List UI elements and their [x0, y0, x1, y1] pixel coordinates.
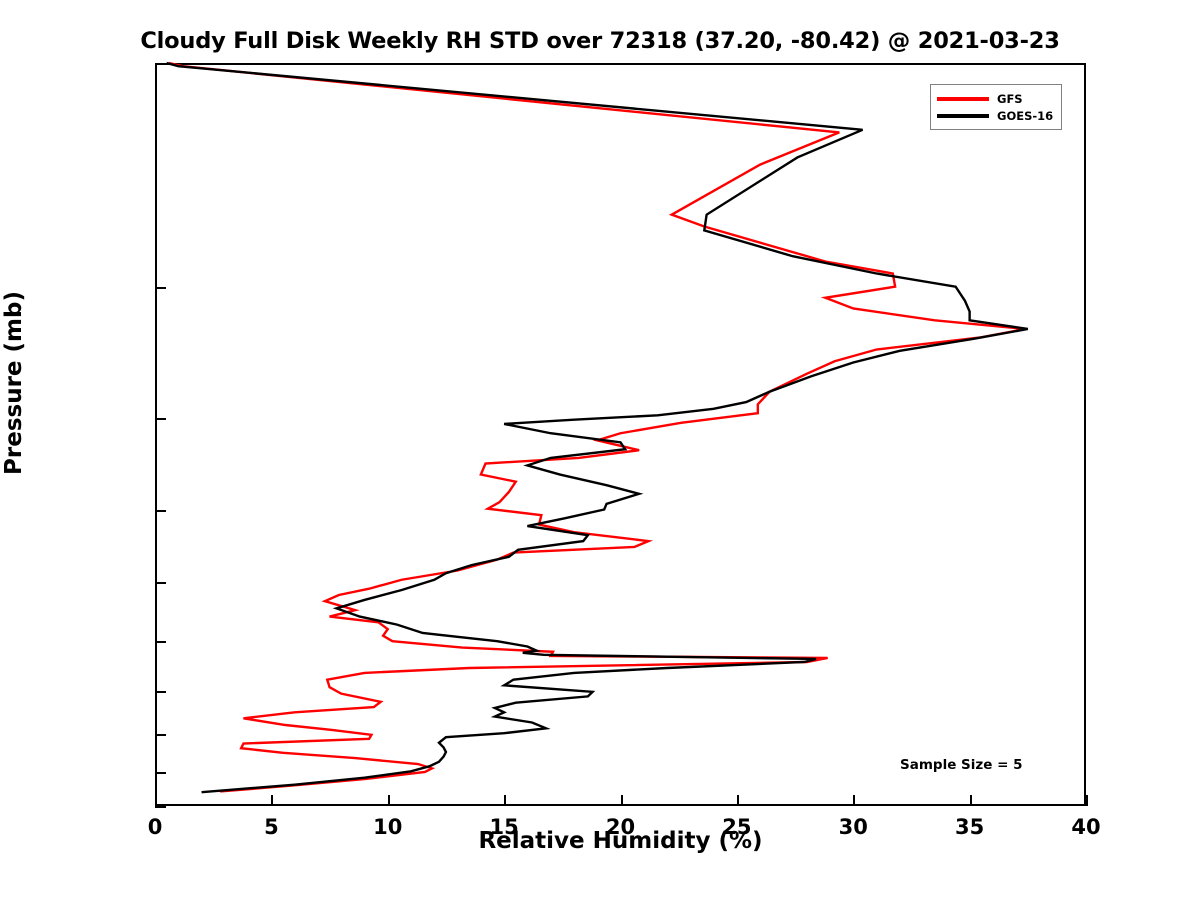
x-tick-mark: [621, 795, 623, 806]
plot-area: 102200300400500600700800900103 051015202…: [155, 63, 1086, 806]
y-tick-mark: [155, 287, 166, 289]
x-tick-mark: [504, 795, 506, 806]
legend-label-gfs: GFS: [997, 92, 1023, 106]
data-series-canvas: [155, 63, 1086, 806]
y-tick-mark: [155, 510, 166, 512]
x-tick-label: 25: [722, 815, 751, 839]
x-tick-mark: [853, 795, 855, 806]
x-tick-label: 30: [839, 815, 868, 839]
legend-swatch-goes16: [937, 114, 989, 118]
x-tick-mark: [1086, 795, 1088, 806]
y-tick-mark: [155, 641, 166, 643]
chart-legend: GFS GOES-16: [930, 84, 1062, 130]
y-tick-mark: [155, 63, 166, 65]
x-tick-label: 35: [955, 815, 984, 839]
y-axis-label: Pressure (mb): [1, 173, 27, 593]
y-tick-mark: [155, 418, 166, 420]
x-tick-label: 5: [264, 815, 279, 839]
y-tick-mark: [155, 806, 166, 808]
legend-entry-goes16: GOES-16: [937, 107, 1053, 124]
legend-swatch-gfs: [937, 97, 989, 101]
x-tick-label: 0: [148, 815, 163, 839]
x-tick-mark: [155, 795, 157, 806]
y-tick-mark: [155, 734, 166, 736]
legend-label-goes16: GOES-16: [997, 109, 1053, 123]
x-tick-label: 20: [606, 815, 635, 839]
y-tick-mark: [155, 691, 166, 693]
x-tick-label: 10: [373, 815, 402, 839]
x-tick-label: 15: [490, 815, 519, 839]
y-tick-mark: [155, 582, 166, 584]
chart-figure: Cloudy Full Disk Weekly RH STD over 7231…: [0, 0, 1200, 900]
data-line-goes-16: [167, 63, 1028, 792]
x-tick-mark: [388, 795, 390, 806]
x-tick-mark: [737, 795, 739, 806]
sample-size-annotation: Sample Size = 5: [900, 757, 1023, 773]
chart-title: Cloudy Full Disk Weekly RH STD over 7231…: [0, 28, 1200, 54]
legend-entry-gfs: GFS: [937, 90, 1053, 107]
x-tick-mark: [271, 795, 273, 806]
x-tick-mark: [970, 795, 972, 806]
x-tick-label: 40: [1071, 815, 1100, 839]
y-tick-mark: [155, 772, 166, 774]
data-line-gfs: [169, 63, 1026, 791]
